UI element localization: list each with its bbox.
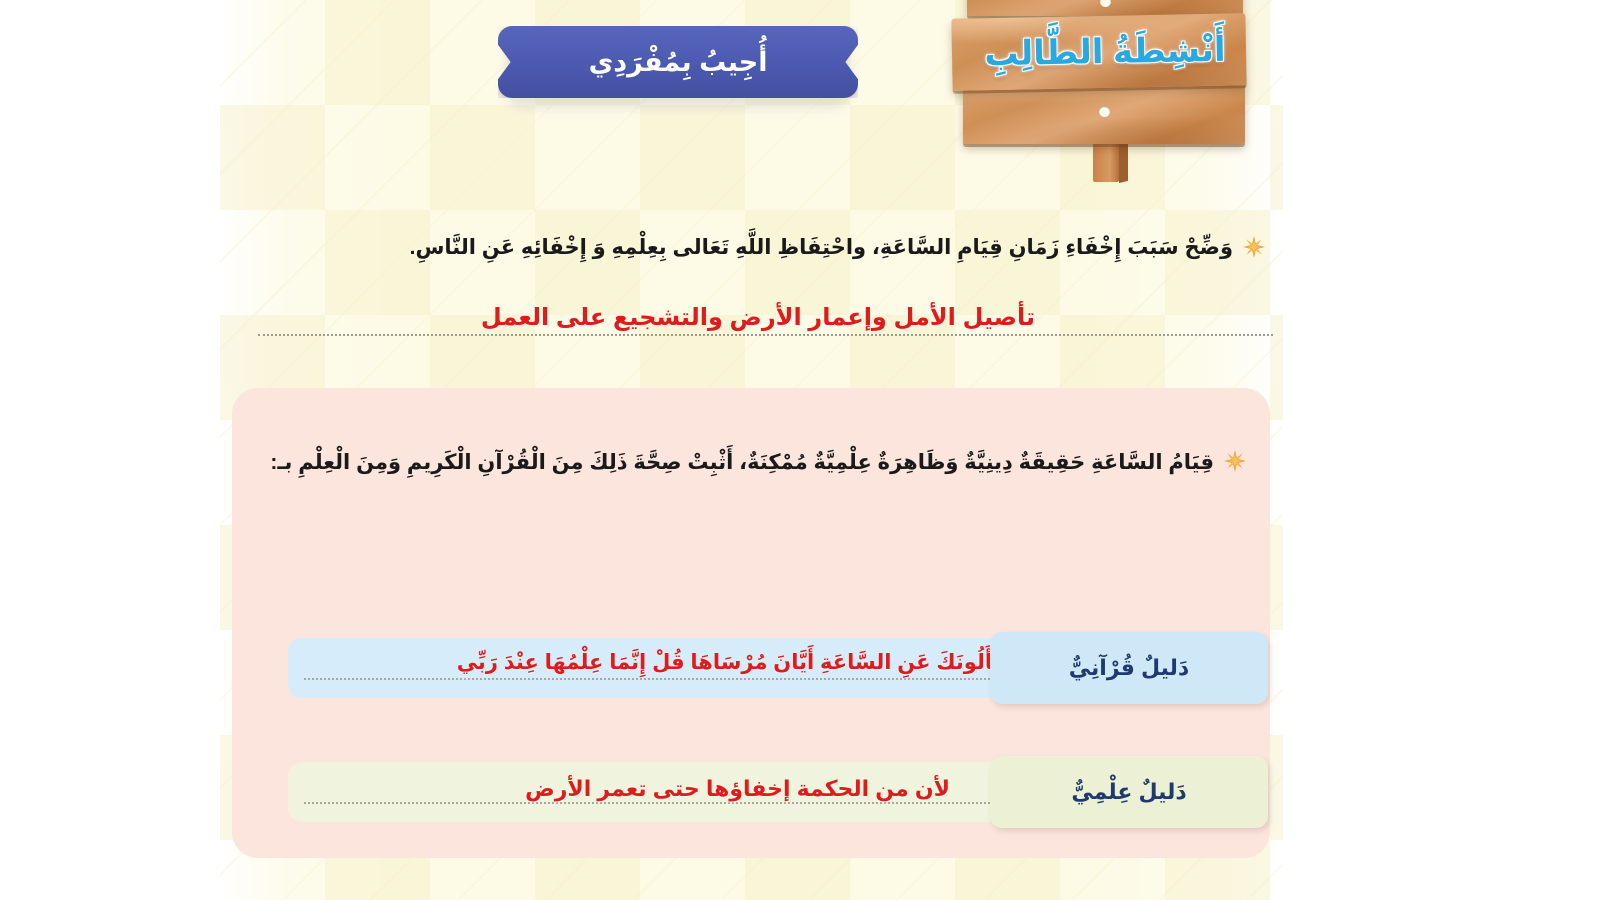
evidence-dotted-line-scientific (304, 802, 1010, 804)
screenshot-root: وَضِّحْ سَبَبَ إِخْفَاءِ زَمَانِ قِيَامِ… (0, 0, 1600, 900)
question-1: وَضِّحْ سَبَبَ إِخْفَاءِ زَمَانِ قِيَامِ… (365, 232, 1265, 264)
eight-point-star-icon (1224, 450, 1246, 472)
answer-line-1 (258, 334, 1273, 336)
evidence-label-quranic: دَليلٌ قُرْآنِيٌّ (990, 632, 1268, 704)
sign-title: أَنْشِطَةُ الطَّالِبِ (954, 13, 1255, 91)
evidence-row-scientific: لأن من الحكمة إخفاؤها حتى تعمر الأرض دَل… (244, 756, 1268, 828)
evidence-answer-scientific: لأن من الحكمة إخفاؤها حتى تعمر الأرض (525, 776, 950, 802)
answer-1-text: تأصيل الأمل وإعمار الأرض والتشجيع على ال… (481, 303, 1035, 332)
evidence-dotted-line-quranic (304, 678, 1010, 680)
banner-answer-alone: أُجِيبُ بِمُفْرَدِي (498, 26, 858, 98)
question-2-card: قِيَامُ السَّاعَةِ حَقِيقَةٌ دِينِيَّةٌ … (232, 388, 1270, 858)
sign-nail (1099, 106, 1110, 117)
question-2-text: قِيَامُ السَّاعَةِ حَقِيقَةٌ دِينِيَّةٌ … (270, 446, 1214, 480)
evidence-answer-quranic: يَسْأَلُونَكَ عَنِ السَّاعَةِ أَيَّانَ م… (457, 650, 1022, 675)
eight-point-star-icon (1243, 236, 1265, 258)
evidence-answer-field-quranic[interactable]: يَسْأَلُونَكَ عَنِ السَّاعَةِ أَيَّانَ م… (288, 638, 1028, 698)
question-2: قِيَامُ السَّاعَةِ حَقِيقَةٌ دِينِيَّةٌ … (246, 446, 1246, 480)
sign-plank-bottom (963, 82, 1245, 144)
evidence-row-quranic: يَسْأَلُونَكَ عَنِ السَّاعَةِ أَيَّانَ م… (244, 632, 1268, 704)
evidence-label-scientific: دَليلٌ عِلْمِيٌّ (990, 756, 1268, 828)
question-1-text: وَضِّحْ سَبَبَ إِخْفَاءِ زَمَانِ قِيَامِ… (410, 232, 1233, 264)
wooden-signboard: أَنْشِطَةُ الطَّالِبِ (955, 0, 1255, 179)
evidence-answer-field-scientific[interactable]: لأن من الحكمة إخفاؤها حتى تعمر الأرض (288, 762, 1028, 822)
